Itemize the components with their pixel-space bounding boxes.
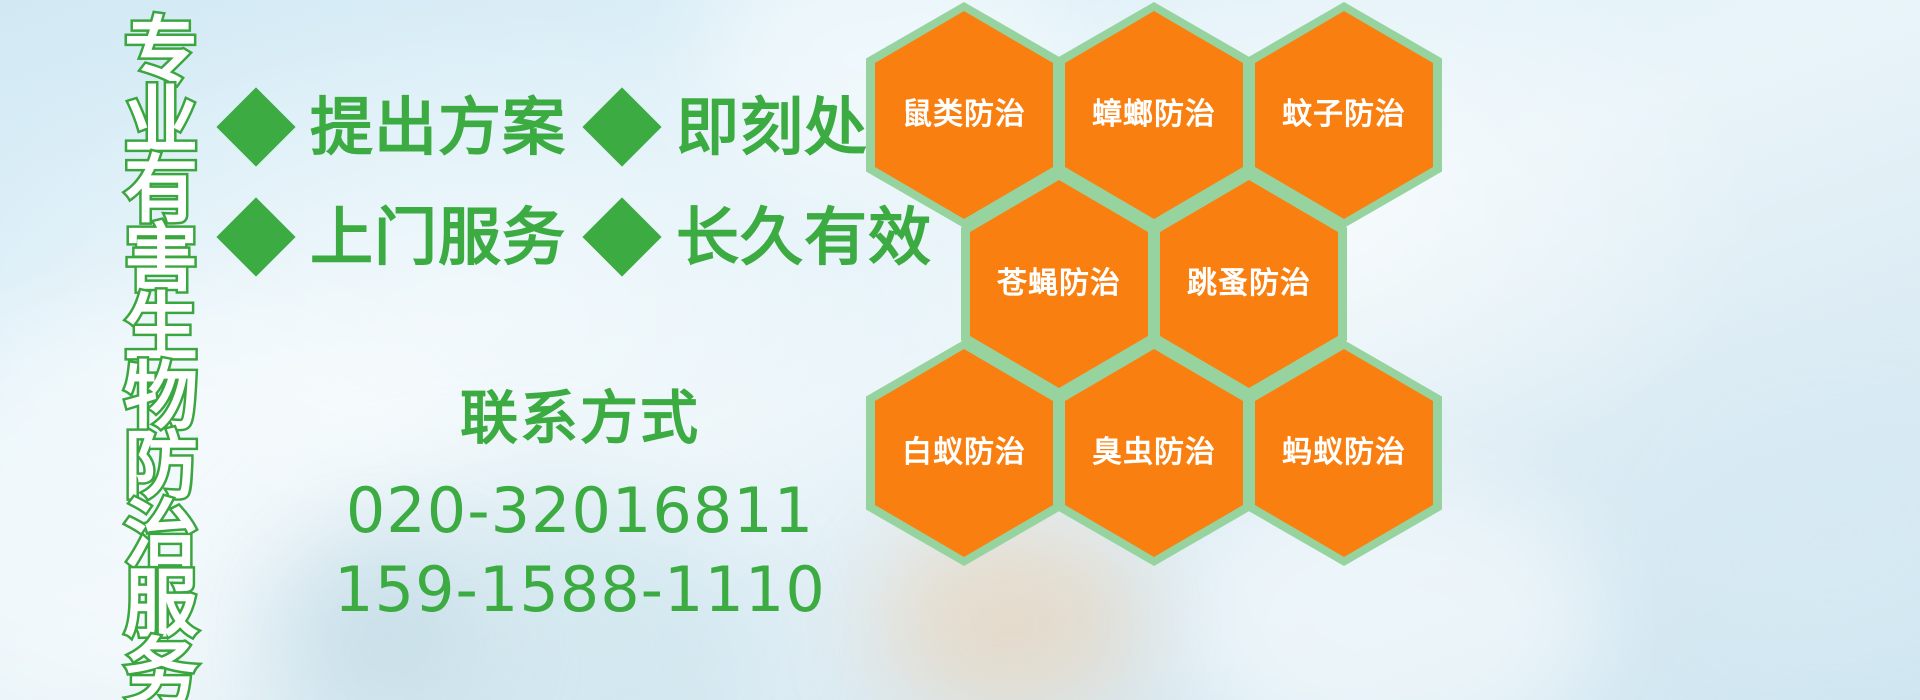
hex-inner: 鼠类防治 bbox=[875, 11, 1053, 219]
hex-inner: 苍蝇防治 bbox=[970, 180, 1148, 388]
hex-inner: 臭虫防治 bbox=[1065, 349, 1243, 557]
contact-title: 联系方式 bbox=[300, 388, 860, 449]
feature-row: 上门服务 长久有效 bbox=[228, 182, 868, 292]
phone-mobile[interactable]: 159-1588-1110 bbox=[300, 550, 860, 629]
diamond-bullet-icon bbox=[216, 197, 295, 276]
service-hex-grid: 鼠类防治 蟑螂防治 蚊子防治 苍蝇防治 跳蚤防治 白蚁防治 bbox=[858, 0, 1458, 700]
diamond-bullet-icon bbox=[582, 87, 661, 166]
hex-inner: 蚊子防治 bbox=[1255, 11, 1433, 219]
service-label: 蟑螂防治 bbox=[1092, 100, 1216, 130]
contact-block: 联系方式 020-32016811 159-1588-1110 bbox=[300, 388, 860, 630]
hex-inner: 跳蚤防治 bbox=[1160, 180, 1338, 388]
service-label: 蚂蚁防治 bbox=[1282, 438, 1406, 468]
background-blur-blob bbox=[1680, 420, 1920, 650]
hex-inner: 白蚁防治 bbox=[875, 349, 1053, 557]
feature-list: 提出方案 即刻处理 上门服务 长久有效 bbox=[228, 72, 868, 292]
service-label: 蚊子防治 bbox=[1282, 100, 1406, 130]
diamond-bullet-icon bbox=[582, 197, 661, 276]
service-label: 鼠类防治 bbox=[902, 100, 1026, 130]
feature-label: 提出方案 bbox=[310, 96, 566, 159]
pest-control-banner: 专业有害生物防治服务 提出方案 即刻处理 上门服务 长久有效 联系方式 020-… bbox=[0, 0, 1920, 700]
feature-label: 上门服务 bbox=[310, 206, 566, 269]
service-label: 白蚁防治 bbox=[902, 438, 1026, 468]
service-label: 臭虫防治 bbox=[1092, 438, 1216, 468]
service-label: 苍蝇防治 bbox=[997, 269, 1121, 299]
feature-row: 提出方案 即刻处理 bbox=[228, 72, 868, 182]
diamond-bullet-icon bbox=[216, 87, 295, 166]
phone-landline[interactable]: 020-32016811 bbox=[300, 471, 860, 550]
hex-inner: 蚂蚁防治 bbox=[1255, 349, 1433, 557]
service-label: 跳蚤防治 bbox=[1187, 269, 1311, 299]
hex-inner: 蟑螂防治 bbox=[1065, 11, 1243, 219]
vertical-headline: 专业有害生物防治服务 bbox=[107, 18, 215, 578]
